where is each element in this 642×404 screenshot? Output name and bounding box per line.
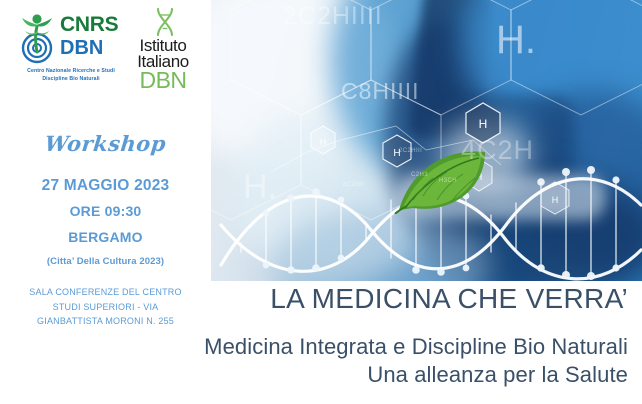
overlay-micro-label-4: H3CH (439, 178, 457, 184)
event-venue-note: (Citta’ Della Cultura 2023) (0, 256, 211, 267)
cnrs-subtitle-line2: Discipline Bio Naturali (12, 76, 130, 84)
event-date: 27 MAGGIO 2023 (0, 177, 211, 195)
event-city: BERGAMO (0, 229, 211, 245)
page-subtitle-1: Medicina Integrata e Discipline Bio Natu… (0, 334, 628, 360)
svg-text:H: H (320, 137, 327, 147)
poster-root: CNRS DBN Centro Nazionale Ricerche e Stu… (0, 0, 642, 404)
address-line-3: GIANBATTISTA MORONI N. 255 (0, 314, 211, 329)
istituto-italiano-dbn-logo: Istituto Italiano DBN (120, 8, 206, 90)
overlay-micro-label-2: C2H3 (411, 172, 428, 178)
dna-hourglass-icon (153, 8, 177, 36)
overlay-formula-top: 2C2HIIII (283, 2, 383, 31)
cnrs-figure-target-icon (16, 12, 58, 64)
overlay-formula-right: 4C2H (461, 135, 534, 166)
svg-text:H: H (479, 117, 488, 131)
overlay-micro-label-3: 8C2HII (343, 182, 364, 188)
cnrs-logo-subtitle: Centro Nazionale Ricerche e Studi Discip… (12, 68, 130, 83)
overlay-micro-label-1: 2C2HIII (399, 148, 422, 154)
event-time: ORE 09:30 (0, 203, 211, 219)
svg-text:H: H (552, 195, 559, 205)
event-kicker: Workshop (0, 131, 212, 156)
hero-image: H H H H H (211, 0, 642, 281)
cnrs-dbn-logo: CNRS DBN Centro Nazionale Ricerche e Stu… (12, 10, 130, 94)
cnrs-subtitle-line1: Centro Nazionale Ricerche e Studi (12, 68, 130, 76)
overlay-atom-right: H. (496, 18, 536, 63)
page-title: LA MEDICINA CHE VERRA’ (0, 283, 628, 315)
molecule-dna-overlay: H H H H H (211, 0, 642, 281)
overlay-formula-mid: C8HIIII (341, 78, 420, 105)
page-subtitle-2: Una alleanza per la Salute (0, 362, 628, 388)
overlay-atom-left: H. (243, 168, 277, 207)
istituto-logo-line3: DBN (120, 68, 206, 92)
